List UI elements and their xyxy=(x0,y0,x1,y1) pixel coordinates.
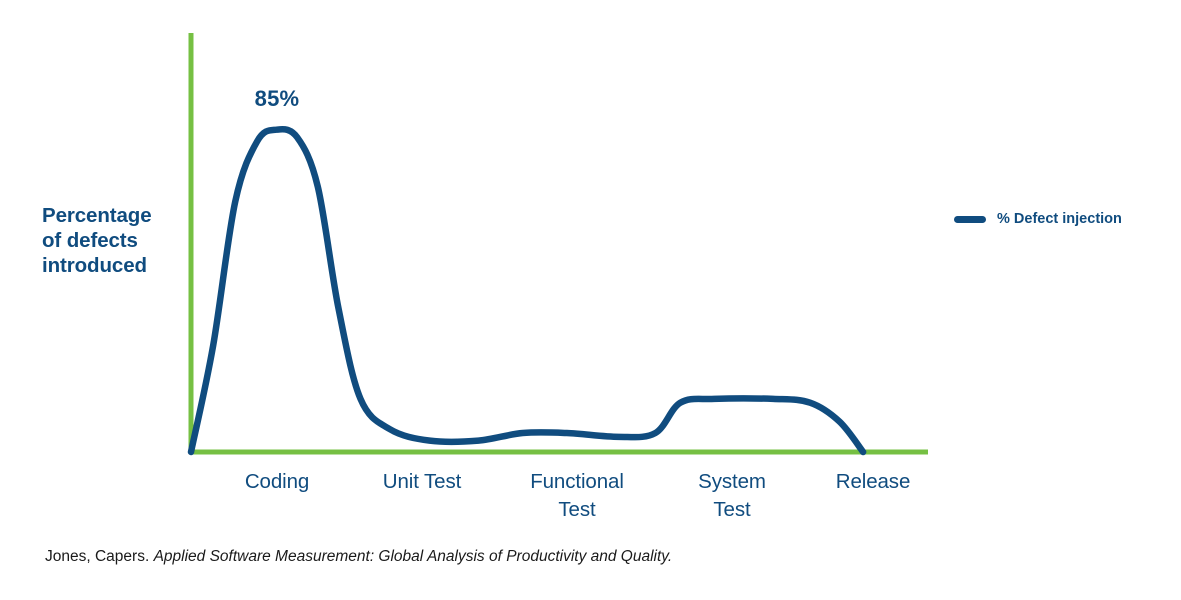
peak-value-label: 85% xyxy=(242,86,312,112)
x-tick-label-functional-test: Functional Test xyxy=(507,468,647,524)
x-tick-coding-line-1: Coding xyxy=(207,468,347,496)
legend-label-defect-injection: % Defect injection xyxy=(997,211,1122,227)
y-axis-title-line-1: Percentage xyxy=(42,203,182,228)
series-line-defect-injection xyxy=(191,129,863,452)
x-tick-release-line-1: Release xyxy=(803,468,943,496)
citation-author: Jones, Capers. xyxy=(45,548,149,565)
y-axis-title: Percentage of defects introduced xyxy=(42,203,182,278)
y-axis-title-line-3: introduced xyxy=(42,253,182,278)
defect-injection-chart: Percentage of defects introduced 85% Cod… xyxy=(0,0,1181,600)
x-tick-system-line-2: Test xyxy=(662,496,802,524)
y-axis-title-line-2: of defects xyxy=(42,228,182,253)
x-tick-label-system-test: System Test xyxy=(662,468,802,524)
x-tick-functional-line-2: Test xyxy=(507,496,647,524)
legend-swatch-defect-injection xyxy=(954,216,986,223)
citation-title: Applied Software Measurement: Global Ana… xyxy=(154,548,673,565)
source-citation: Jones, Capers. Applied Software Measurem… xyxy=(45,548,672,566)
x-tick-functional-line-1: Functional xyxy=(507,468,647,496)
chart-legend: % Defect injection xyxy=(954,211,1122,227)
x-tick-system-line-1: System xyxy=(662,468,802,496)
x-tick-unit-test-line-1: Unit Test xyxy=(352,468,492,496)
x-tick-label-coding: Coding xyxy=(207,468,347,496)
x-tick-label-release: Release xyxy=(803,468,943,496)
x-tick-label-unit-test: Unit Test xyxy=(352,468,492,496)
